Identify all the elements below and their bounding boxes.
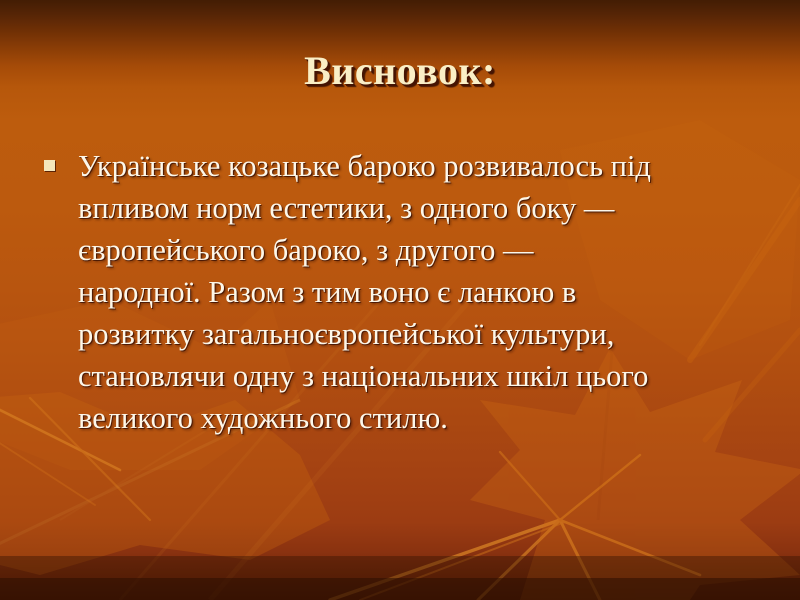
page-title: Висновок: (304, 48, 496, 94)
square-bullet-icon (44, 160, 55, 171)
presentation-slide: Висновок: Українське козацьке бароко роз… (0, 0, 800, 600)
slide-body-content: Українське козацьке бароко розвивалось п… (44, 145, 760, 439)
slide-title-container: Висновок: (0, 48, 800, 94)
list-item: Українське козацьке бароко розвивалось п… (44, 145, 760, 439)
bullet-paragraph-text: Українське козацьке бароко розвивалось п… (78, 145, 760, 439)
